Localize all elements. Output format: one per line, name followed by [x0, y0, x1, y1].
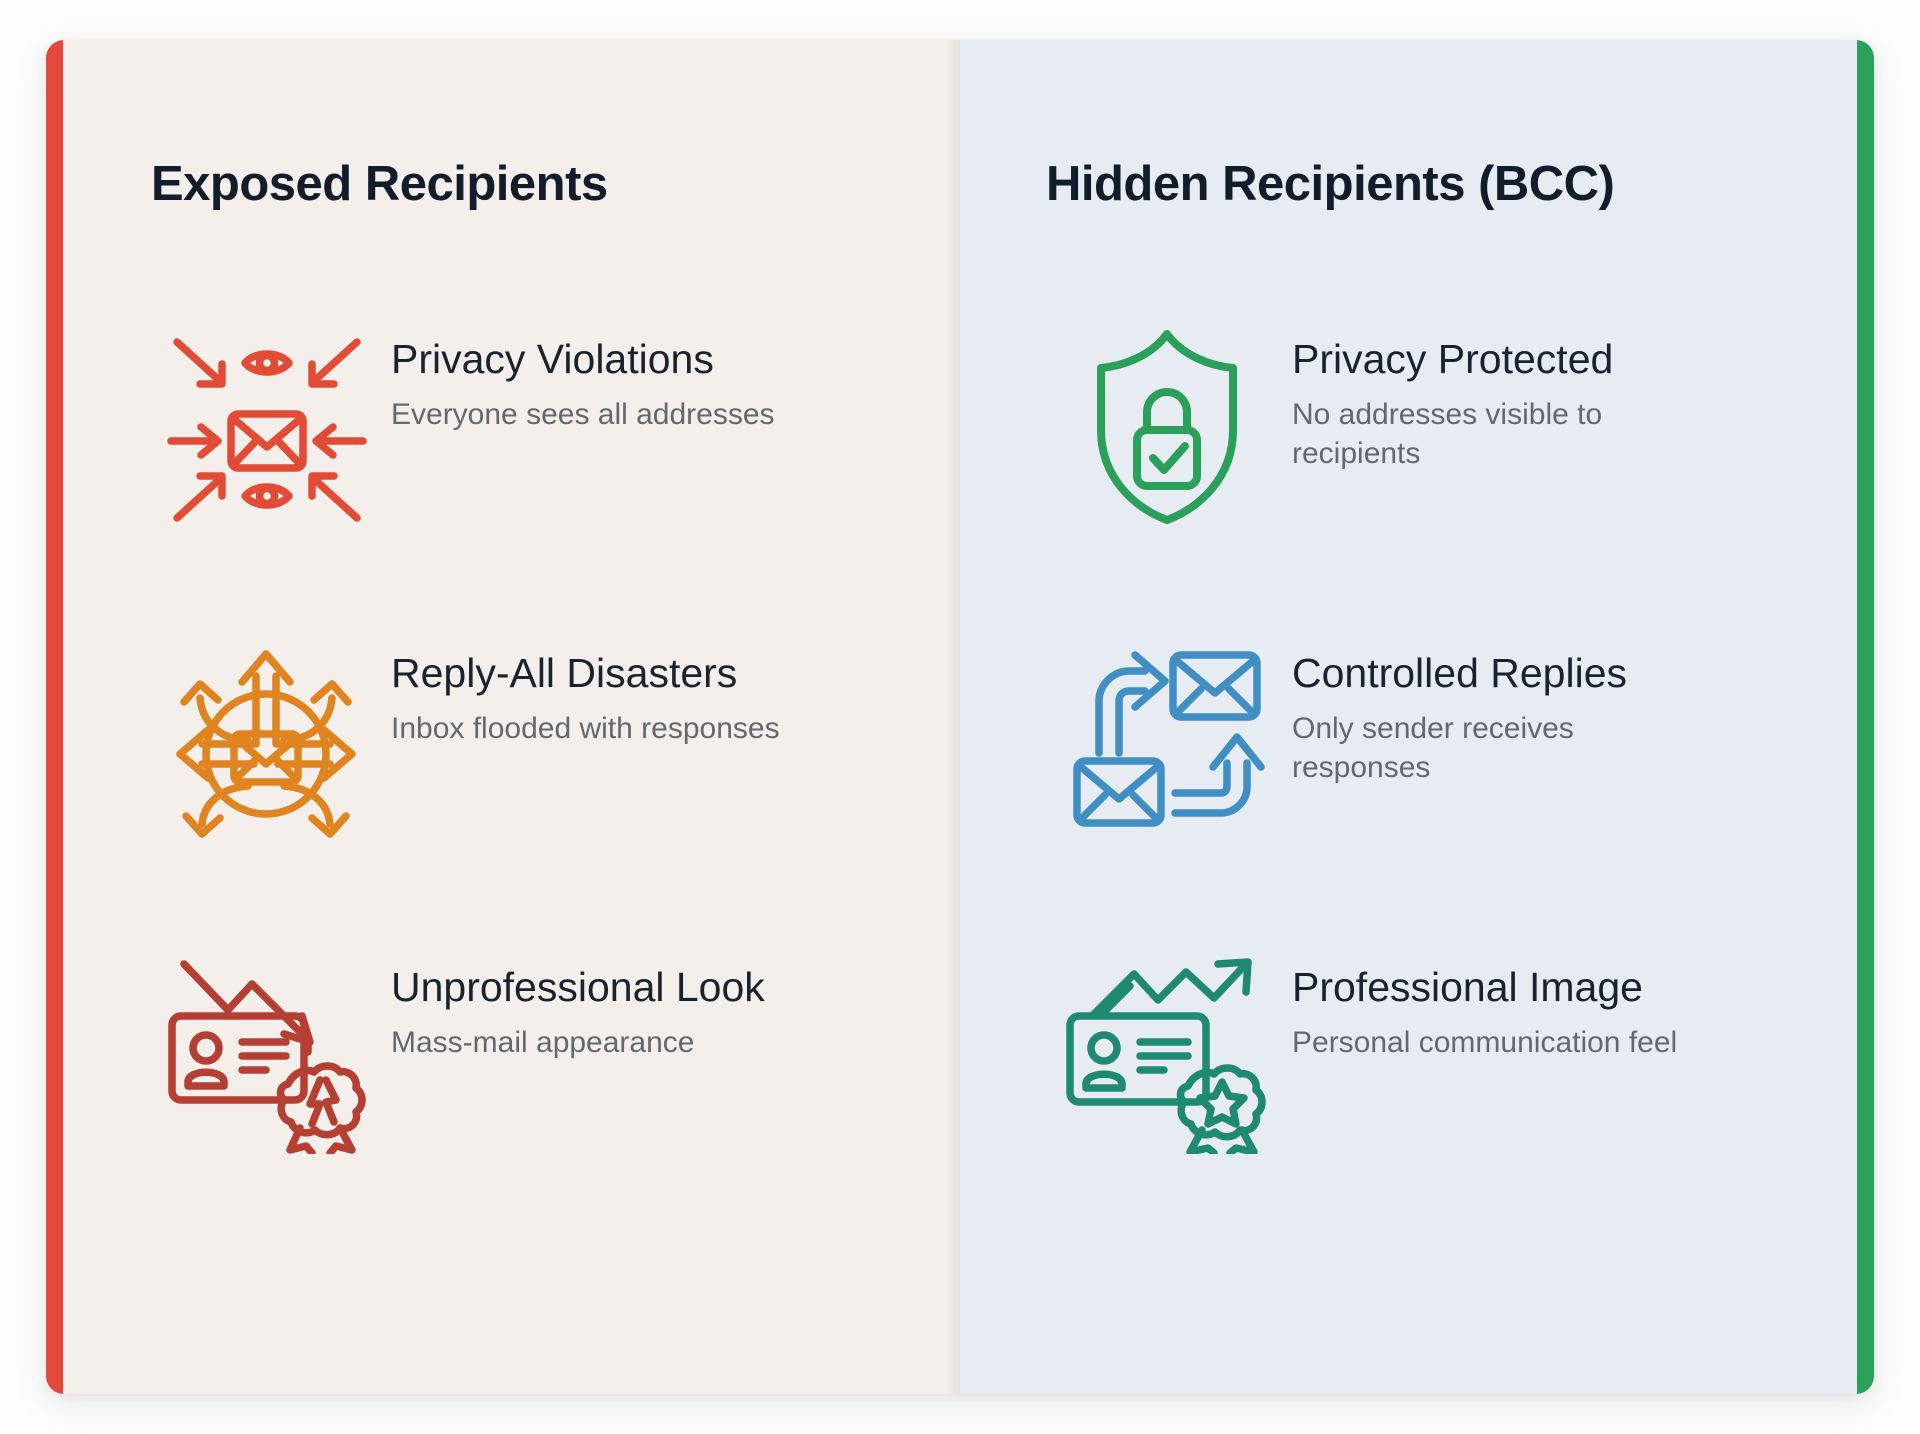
list-item: Unprofessional Look Mass-mail appearance: [63, 936, 960, 1172]
list-item-title: Reply-All Disasters: [391, 650, 780, 697]
card-rising-arrow-star-badge-icon: [1042, 936, 1292, 1172]
list-item-text: Controlled Replies Only sender receives …: [1292, 622, 1692, 788]
list-item-title: Controlled Replies: [1292, 650, 1692, 697]
list-item-text: Privacy Protected No addresses visible t…: [1292, 308, 1692, 474]
accent-bar-left: [46, 40, 63, 1394]
envelope-radiating-arrows-icon: [141, 622, 391, 858]
feature-list-hidden: Privacy Protected No addresses visible t…: [960, 308, 1857, 1172]
list-item: Privacy Protected No addresses visible t…: [960, 308, 1857, 544]
feature-list-exposed: Privacy Violations Everyone sees all add…: [63, 308, 960, 1172]
list-item-description: Personal communication feel: [1292, 1023, 1677, 1063]
list-item: Reply-All Disasters Inbox flooded with r…: [63, 622, 960, 858]
list-item-text: Reply-All Disasters Inbox flooded with r…: [391, 622, 780, 748]
panel-hidden-recipients: Hidden Recipients (BCC) Privacy Protecte…: [960, 40, 1857, 1394]
panel-title-hidden: Hidden Recipients (BCC): [960, 158, 1857, 212]
list-item-text: Professional Image Personal communicatio…: [1292, 936, 1677, 1062]
list-item-title: Privacy Violations: [391, 336, 775, 383]
accent-bar-right: [1857, 40, 1874, 1394]
list-item-title: Professional Image: [1292, 964, 1677, 1011]
shield-lock-check-icon: [1042, 308, 1292, 544]
card-declining-broken-badge-icon: [141, 936, 391, 1172]
list-item-description: No addresses visible to recipients: [1292, 395, 1692, 474]
envelope-eyes-arrows-icon: [141, 308, 391, 544]
list-item-description: Everyone sees all addresses: [391, 395, 775, 435]
list-item-title: Unprofessional Look: [391, 964, 765, 1011]
panel-title-exposed: Exposed Recipients: [63, 158, 960, 212]
two-envelopes-cycle-arrows-icon: [1042, 622, 1292, 858]
list-item-description: Only sender receives responses: [1292, 709, 1692, 788]
list-item: Privacy Violations Everyone sees all add…: [63, 308, 960, 544]
list-item-text: Unprofessional Look Mass-mail appearance: [391, 936, 765, 1062]
comparison-card: Exposed Recipients: [46, 40, 1874, 1394]
list-item: Controlled Replies Only sender receives …: [960, 622, 1857, 858]
panel-exposed-recipients: Exposed Recipients: [63, 40, 960, 1394]
list-item-title: Privacy Protected: [1292, 336, 1692, 383]
list-item-description: Mass-mail appearance: [391, 1023, 765, 1063]
list-item-text: Privacy Violations Everyone sees all add…: [391, 308, 775, 434]
infographic-stage: Exposed Recipients: [0, 0, 1920, 1434]
list-item: Professional Image Personal communicatio…: [960, 936, 1857, 1172]
list-item-description: Inbox flooded with responses: [391, 709, 780, 749]
